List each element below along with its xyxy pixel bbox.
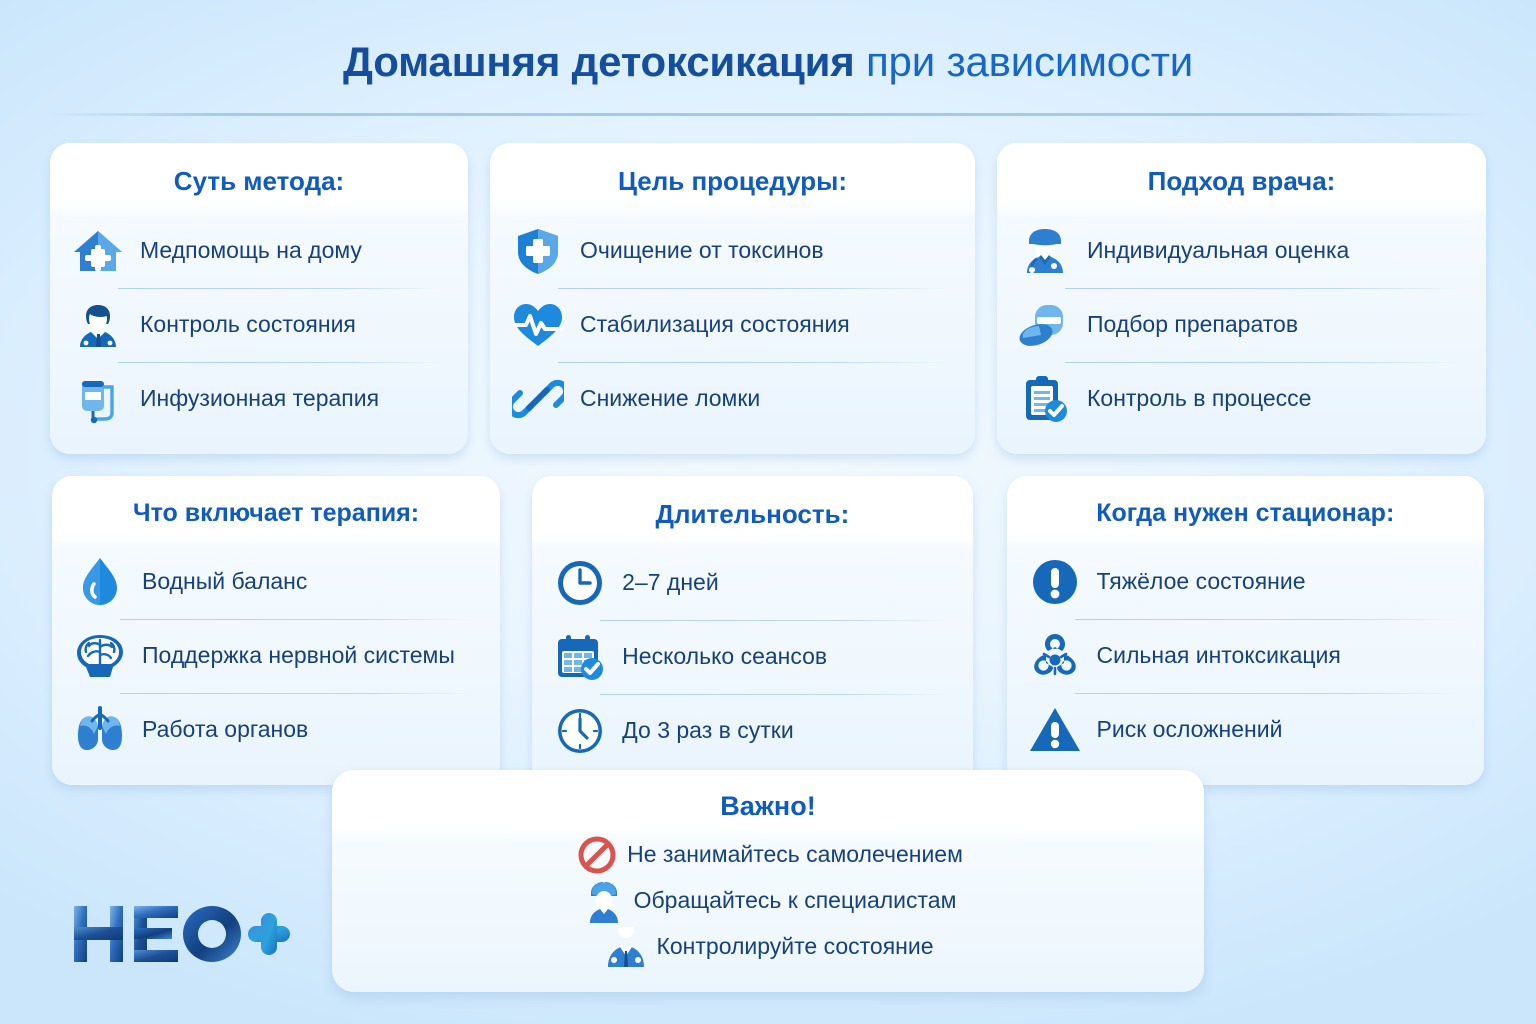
card-heading: Цель процедуры:	[510, 159, 955, 214]
cards-row-1: Суть метода: Медпомощь на дому	[0, 143, 1536, 454]
prohibition-icon	[573, 832, 621, 878]
card-items: Медпомощь на дому	[70, 214, 448, 436]
list-item-label: Не занимайтесь самолечением	[627, 841, 963, 868]
card-chto-vklyuchaet-terapiya: Что включает терапия: Водный баланс	[52, 476, 500, 785]
list-item-label: Поддержка нервной системы	[142, 642, 455, 670]
card-heading: Длительность:	[552, 492, 952, 547]
list-item-label: Контролируйте состояние	[656, 933, 933, 960]
clipboard-check-icon	[1017, 371, 1073, 427]
list-item-label: 2–7 дней	[622, 569, 719, 597]
list-item-label: Тяжёлое состояние	[1097, 568, 1306, 596]
card-cel-procedury: Цель процедуры: Очищение от токсинов	[490, 143, 975, 454]
iv-drip-icon	[70, 371, 126, 427]
doctor-body-icon	[602, 924, 650, 970]
list-item-label: Индивидуальная оценка	[1087, 237, 1349, 265]
list-item: Обращайтесь к специалистам	[580, 878, 957, 924]
list-item: Контролируйте состояние	[602, 924, 933, 970]
list-item: Тяжёлое состояние	[1027, 545, 1464, 619]
heart-pulse-icon	[510, 297, 566, 353]
list-item-label: Подбор препаратов	[1087, 311, 1298, 339]
list-item: Подбор препаратов	[1017, 288, 1466, 362]
list-item: Работа органов	[72, 693, 480, 767]
clock-icon	[552, 703, 608, 759]
page-title-main: Домашняя детоксикация	[343, 38, 855, 85]
list-item: Стабилизация состояния	[510, 288, 955, 362]
list-item: Риск осложнений	[1027, 693, 1464, 767]
card-sut-metoda: Суть метода: Медпомощь на дому	[50, 143, 468, 454]
list-item: Сильная интоксикация	[1027, 619, 1464, 693]
card-items: Очищение от токсинов Стабилизация состоя…	[510, 214, 955, 436]
list-item: Несколько сеансов	[552, 620, 952, 694]
list-item-label: Стабилизация состояния	[580, 311, 850, 339]
warning-triangle-icon	[1027, 702, 1083, 758]
list-item-label: Водный баланс	[142, 568, 307, 596]
list-item: 2–7 дней	[552, 546, 952, 620]
list-item-label: Несколько сеансов	[622, 643, 827, 671]
list-item: До 3 раз в сутки	[552, 694, 952, 768]
doctor-stethoscope-icon	[1017, 223, 1073, 279]
card-heading: Когда нужен стационар:	[1027, 492, 1464, 545]
page-title-sub: при зависимости	[855, 38, 1193, 85]
card-items: Водный баланс	[72, 545, 480, 767]
list-item-label: Контроль состояния	[140, 311, 356, 339]
cards-row-2: Что включает терапия: Водный баланс	[0, 476, 1536, 787]
shield-cross-icon	[510, 223, 566, 279]
card-podhod-vracha: Подход врача:	[997, 143, 1486, 454]
doctor-person-icon	[70, 297, 126, 353]
card-heading: Важно!	[356, 784, 1180, 832]
clock-icon	[552, 555, 608, 611]
list-item: Не занимайтесь самолечением	[573, 832, 963, 878]
list-item: Поддержка нервной системы	[72, 619, 480, 693]
list-item: Контроль в процессе	[1017, 362, 1466, 436]
list-item: Медпомощь на дому	[70, 214, 448, 288]
card-items: Тяжёлое состояние	[1027, 545, 1464, 767]
chain-link-icon	[510, 371, 566, 427]
brain-icon	[72, 628, 128, 684]
important-items: Не занимайтесь самолечением Обращайтесь …	[356, 832, 1180, 970]
water-drop-icon	[72, 554, 128, 610]
card-heading: Что включает терапия:	[72, 492, 480, 545]
list-item-label: Очищение от токсинов	[580, 237, 824, 265]
list-item: Снижение ломки	[510, 362, 955, 436]
pills-icon	[1017, 297, 1073, 353]
cards-grid: Суть метода: Медпомощь на дому	[0, 143, 1536, 786]
list-item-label: Снижение ломки	[580, 385, 760, 413]
list-item-label: Работа органов	[142, 716, 308, 744]
list-item-label: Медпомощь на дому	[140, 237, 362, 265]
list-item: Инфузионная терапия	[70, 362, 448, 436]
card-items: Индивидуальная оценка Подбор препаратов	[1017, 214, 1466, 436]
calendar-check-icon	[552, 629, 608, 685]
card-vazhno: Важно! Не занимайтесь самолечением	[332, 770, 1204, 992]
list-item: Индивидуальная оценка	[1017, 214, 1466, 288]
card-items: 2–7 дней	[552, 546, 952, 768]
card-dlitelnost: Длительность: 2–7 дней	[532, 476, 972, 787]
list-item: Водный баланс	[72, 545, 480, 619]
neo-plus-logo	[72, 900, 292, 966]
card-kogda-nuzhen-stacionar: Когда нужен стационар: Тяжёлое состояние	[1007, 476, 1484, 785]
biohazard-icon	[1027, 628, 1083, 684]
exclamation-circle-icon	[1027, 554, 1083, 610]
list-item-label: Обращайтесь к специалистам	[634, 887, 957, 914]
list-item-label: Инфузионная терапия	[140, 385, 379, 413]
list-item: Очищение от токсинов	[510, 214, 955, 288]
list-item-label: Сильная интоксикация	[1097, 642, 1341, 670]
doctor-cap-icon	[580, 878, 628, 924]
card-heading: Подход врача:	[1017, 159, 1466, 214]
house-medical-icon	[70, 223, 126, 279]
page-header: Домашняя детоксикация при зависимости	[0, 0, 1536, 86]
card-heading: Суть метода:	[70, 159, 448, 214]
list-item: Контроль состояния	[70, 288, 448, 362]
lungs-icon	[72, 702, 128, 758]
page-title: Домашняя детоксикация при зависимости	[0, 38, 1536, 86]
list-item-label: Контроль в процессе	[1087, 385, 1311, 413]
list-item-label: Риск осложнений	[1097, 716, 1283, 744]
title-divider	[46, 113, 1490, 116]
list-item-label: До 3 раз в сутки	[622, 717, 794, 745]
